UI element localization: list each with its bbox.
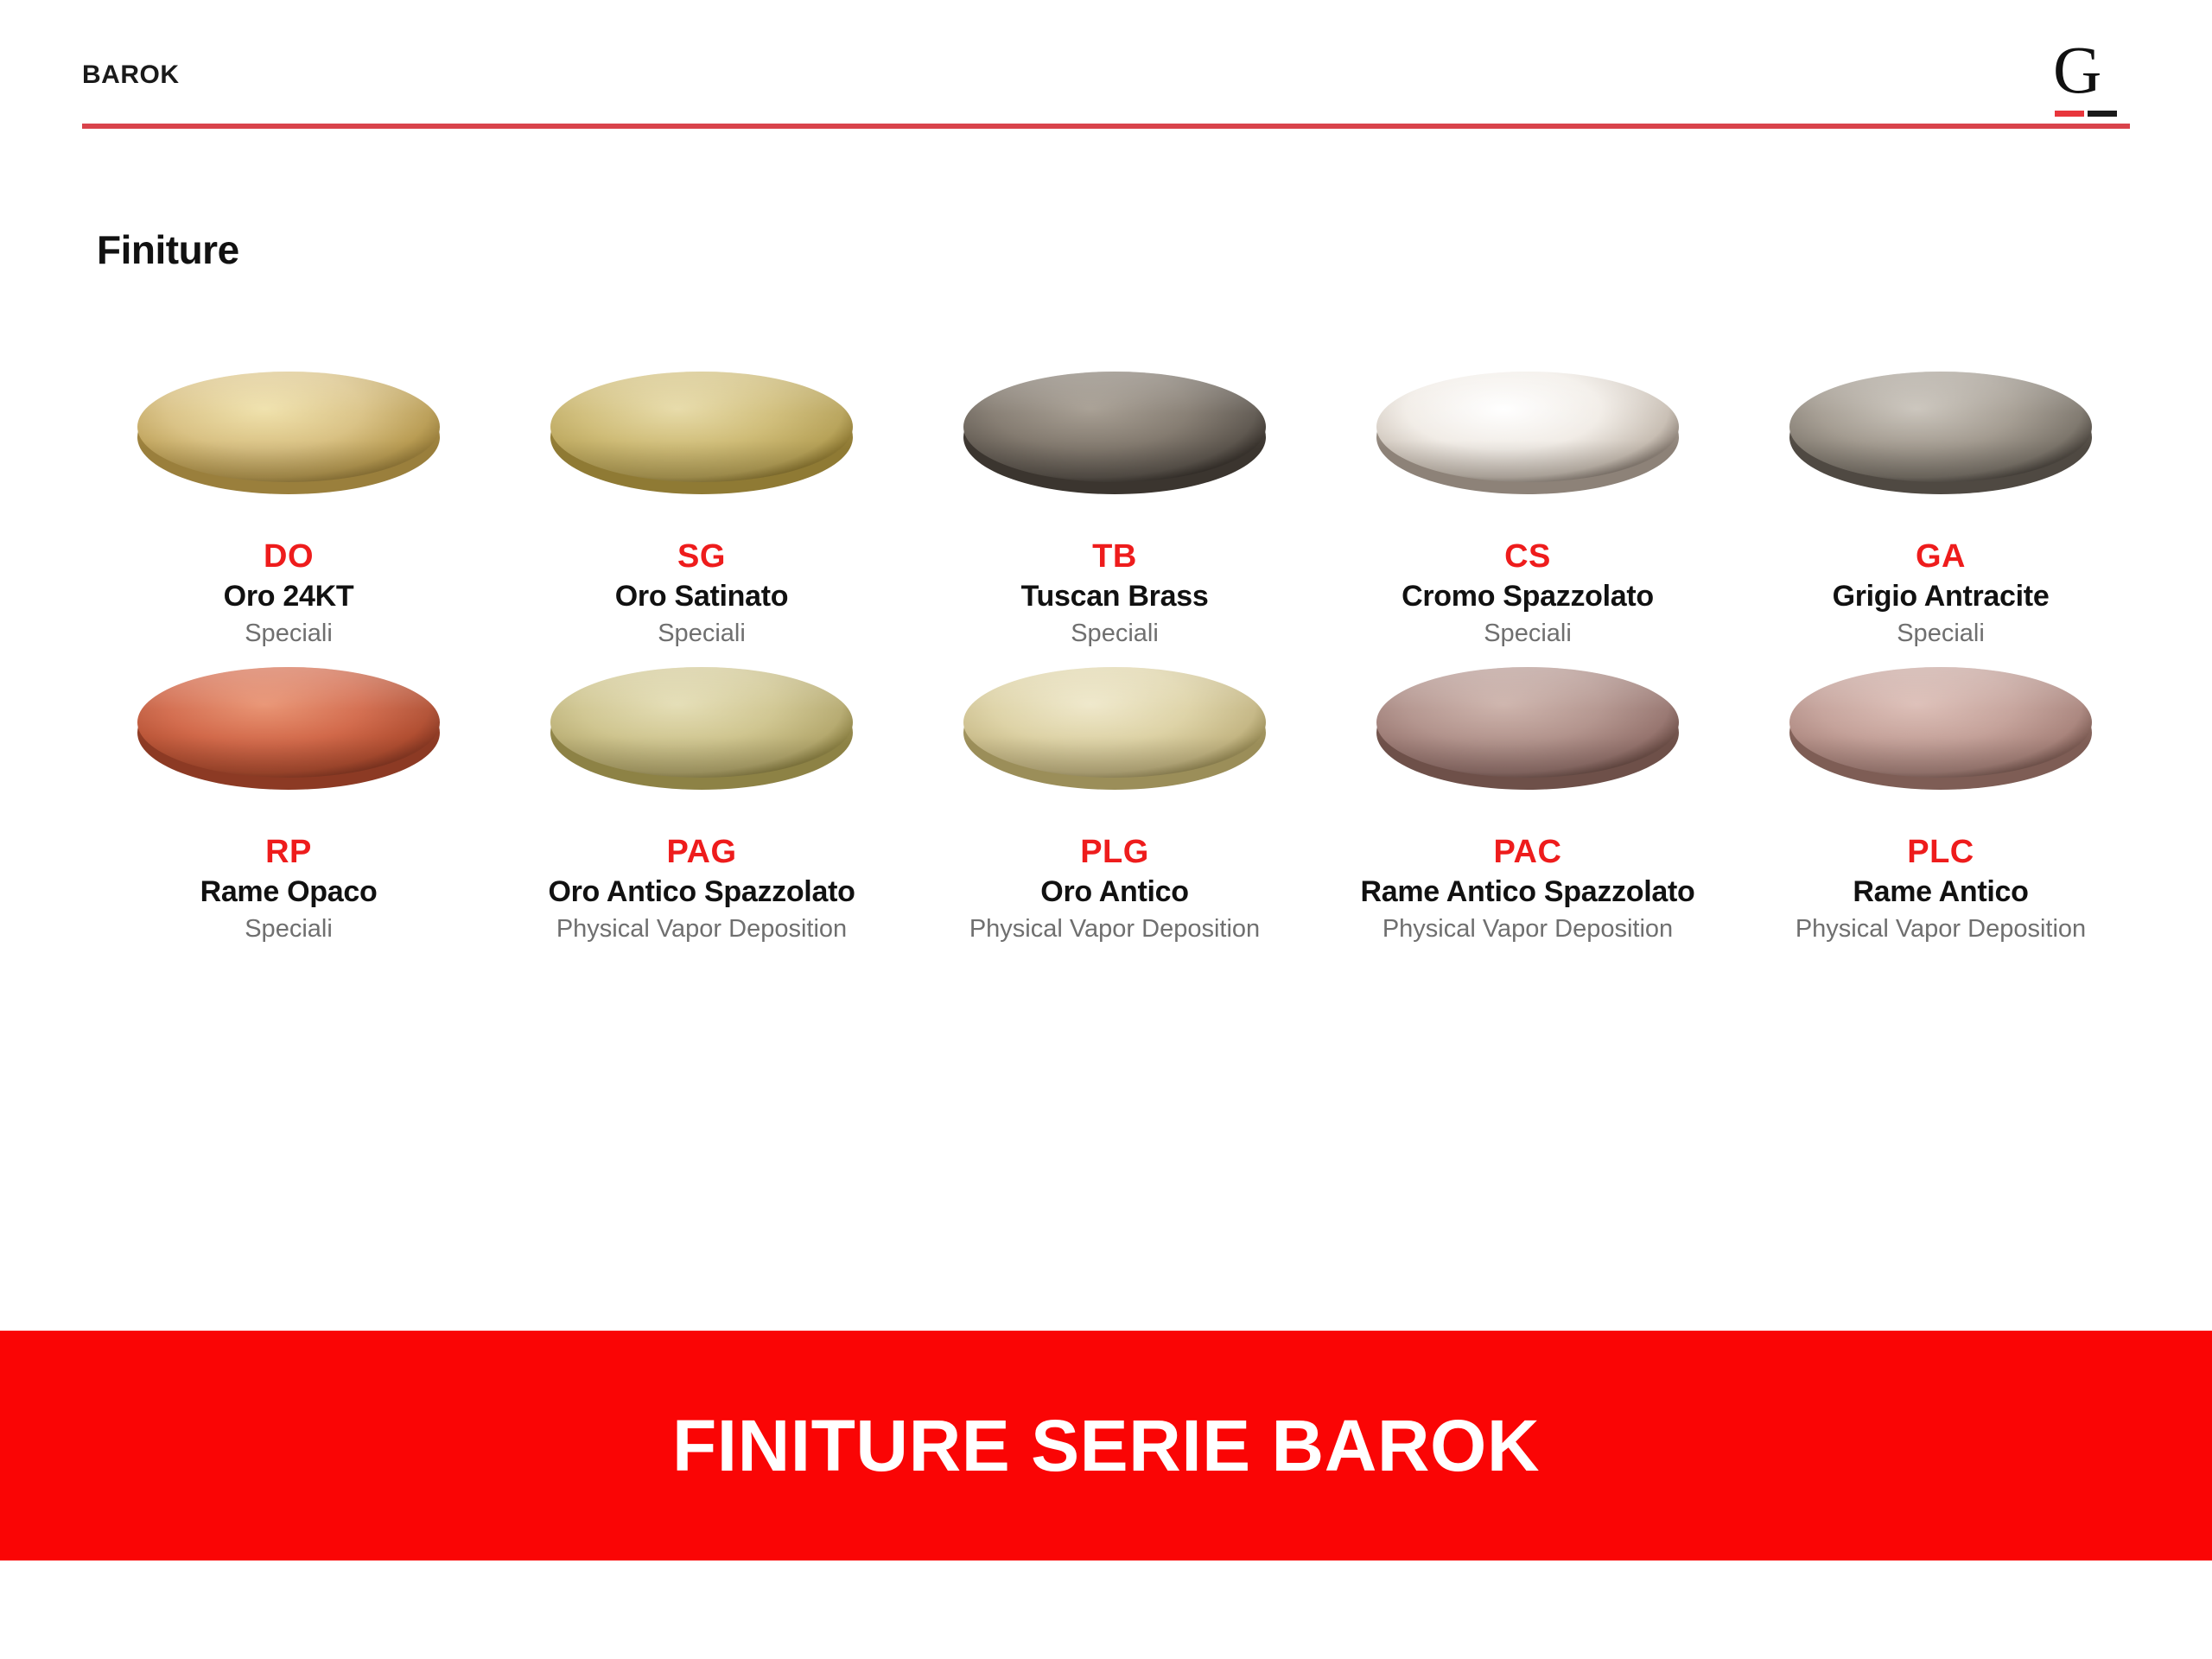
finish-swatch — [1734, 667, 2147, 827]
finish-process: Physical Vapor Deposition — [1734, 913, 2147, 945]
finish-process: Physical Vapor Deposition — [1321, 913, 1734, 945]
swatch-disc-icon — [550, 372, 853, 486]
bottom-banner: FINITURE SERIE BAROK — [0, 1331, 2212, 1560]
page-title: BAROK — [82, 60, 180, 90]
swatch-disc-face — [137, 372, 440, 482]
finish-labels: CSCromo SpazzolatoSpeciali — [1321, 531, 1734, 650]
finish-cell[interactable]: PAGOro Antico SpazzolatoPhysical Vapor D… — [495, 667, 908, 945]
finish-name: Cromo Spazzolato — [1321, 578, 1734, 614]
finish-swatch — [908, 372, 1321, 531]
finish-cell[interactable]: PLCRame AnticoPhysical Vapor Deposition — [1734, 667, 2147, 945]
finish-code: DO — [82, 537, 495, 576]
finish-labels: PAGOro Antico SpazzolatoPhysical Vapor D… — [495, 827, 908, 945]
finish-process: Speciali — [1321, 618, 1734, 650]
logo-bar-black-icon — [2088, 111, 2117, 117]
finish-labels: PLCRame AnticoPhysical Vapor Deposition — [1734, 827, 2147, 945]
swatch-disc-face — [137, 667, 440, 778]
finish-grid: DOOro 24KTSpecialiSGOro SatinatoSpeciali… — [82, 372, 2147, 945]
finish-cell[interactable]: CSCromo SpazzolatoSpeciali — [1321, 372, 1734, 650]
finish-cell[interactable]: GAGrigio AntraciteSpeciali — [1734, 372, 2147, 650]
finish-cell[interactable]: SGOro SatinatoSpeciali — [495, 372, 908, 650]
finish-cell[interactable]: PLGOro AnticoPhysical Vapor Deposition — [908, 667, 1321, 945]
finish-labels: DOOro 24KTSpeciali — [82, 531, 495, 650]
finish-labels: PACRame Antico SpazzolatoPhysical Vapor … — [1321, 827, 1734, 945]
finish-labels: GAGrigio AntraciteSpeciali — [1734, 531, 2147, 650]
finish-name: Rame Antico — [1734, 874, 2147, 910]
page-header: BAROK G — [82, 52, 2130, 130]
finish-swatch — [82, 667, 495, 827]
finish-swatch — [1321, 372, 1734, 531]
finish-cell[interactable]: RPRame OpacoSpeciali — [82, 667, 495, 945]
finish-swatch — [1321, 667, 1734, 827]
swatch-disc-icon — [1789, 667, 2092, 781]
finish-swatch — [908, 667, 1321, 827]
finish-code: TB — [908, 537, 1321, 576]
swatch-disc-face — [1789, 667, 2092, 778]
finish-code: CS — [1321, 537, 1734, 576]
finish-code: RP — [82, 832, 495, 872]
finish-process: Speciali — [1734, 618, 2147, 650]
logo-bar-red-icon — [2055, 111, 2084, 117]
swatch-disc-icon — [963, 667, 1266, 781]
finish-swatch — [82, 372, 495, 531]
swatch-disc-face — [550, 372, 853, 482]
swatch-disc-icon — [1376, 667, 1679, 781]
finish-name: Oro Antico Spazzolato — [495, 874, 908, 910]
swatch-disc-face — [1789, 372, 2092, 482]
finish-swatch — [1734, 372, 2147, 531]
finish-code: SG — [495, 537, 908, 576]
swatch-disc-icon — [963, 372, 1266, 486]
finish-labels: RPRame OpacoSpeciali — [82, 827, 495, 945]
finish-name: Oro Antico — [908, 874, 1321, 910]
swatch-disc-icon — [1376, 372, 1679, 486]
swatch-disc-face — [550, 667, 853, 778]
finish-cell[interactable]: TBTuscan BrassSpeciali — [908, 372, 1321, 650]
finish-labels: TBTuscan BrassSpeciali — [908, 531, 1321, 650]
finish-name: Tuscan Brass — [908, 578, 1321, 614]
finish-process: Physical Vapor Deposition — [908, 913, 1321, 945]
finish-labels: SGOro SatinatoSpeciali — [495, 531, 908, 650]
brand-logo: G — [2048, 36, 2130, 127]
finish-code: PLG — [908, 832, 1321, 872]
finish-process: Physical Vapor Deposition — [495, 913, 908, 945]
finish-swatch — [495, 667, 908, 827]
finish-code: PAG — [495, 832, 908, 872]
finish-process: Speciali — [82, 618, 495, 650]
finish-labels: PLGOro AnticoPhysical Vapor Deposition — [908, 827, 1321, 945]
finish-name: Grigio Antracite — [1734, 578, 2147, 614]
section-title: Finiture — [97, 226, 239, 273]
finish-process: Speciali — [908, 618, 1321, 650]
finish-process: Speciali — [495, 618, 908, 650]
finish-name: Rame Antico Spazzolato — [1321, 874, 1734, 910]
slide-root: BAROK G Finiture DOOro 24KTSpecialiSGOro… — [0, 0, 2212, 1659]
swatch-disc-face — [1376, 667, 1679, 778]
finish-name: Oro 24KT — [82, 578, 495, 614]
finish-swatch — [495, 372, 908, 531]
swatch-disc-face — [963, 372, 1266, 482]
finish-code: PAC — [1321, 832, 1734, 872]
finish-name: Oro Satinato — [495, 578, 908, 614]
finish-code: PLC — [1734, 832, 2147, 872]
swatch-disc-icon — [137, 667, 440, 781]
header-divider — [82, 124, 2130, 129]
swatch-disc-face — [1376, 372, 1679, 482]
finish-cell[interactable]: PACRame Antico SpazzolatoPhysical Vapor … — [1321, 667, 1734, 945]
finish-cell[interactable]: DOOro 24KTSpeciali — [82, 372, 495, 650]
finish-process: Speciali — [82, 913, 495, 945]
swatch-disc-face — [963, 667, 1266, 778]
swatch-disc-icon — [550, 667, 853, 781]
finish-code: GA — [1734, 537, 2147, 576]
swatch-disc-icon — [1789, 372, 2092, 486]
banner-title: FINITURE SERIE BAROK — [672, 1404, 1540, 1488]
logo-letter-g-icon: G — [2053, 36, 2101, 104]
swatch-disc-icon — [137, 372, 440, 486]
finish-name: Rame Opaco — [82, 874, 495, 910]
